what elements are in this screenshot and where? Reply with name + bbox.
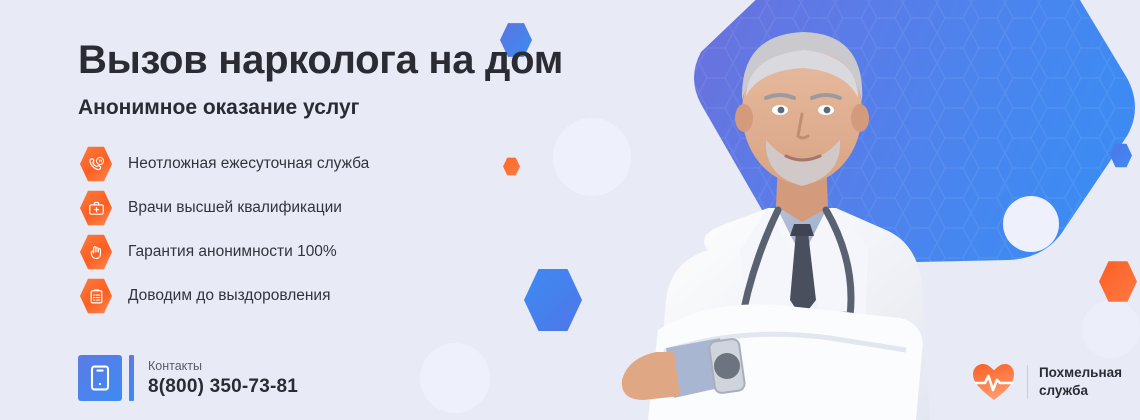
phone-24h-icon: [80, 146, 112, 182]
medical-bag-icon: [80, 190, 112, 226]
list-item: Доводим до выздоровления: [80, 274, 369, 318]
feature-list: Неотложная ежесуточная служба Врачи высш…: [80, 142, 369, 318]
hexagon-orange-decor: [1099, 260, 1137, 303]
hexagon-blue-decor: [1110, 143, 1132, 168]
mobile-phone-icon: [78, 355, 122, 401]
clipboard-icon: [80, 278, 112, 314]
logo-divider: [1027, 365, 1028, 399]
page-subtitle: Анонимное оказание услуг: [78, 96, 359, 120]
contacts-block[interactable]: Контакты 8(800) 350-73-81: [78, 355, 298, 401]
phone-number[interactable]: 8(800) 350-73-81: [148, 376, 298, 398]
page-title: Вызов нарколога на дом: [78, 38, 563, 83]
heart-pulse-icon: [972, 362, 1016, 402]
logo-text-line2: служба: [1039, 383, 1088, 398]
doctor-photo: [600, 0, 1000, 420]
brand-logo[interactable]: Похмельная служба: [972, 362, 1122, 402]
content-column: Вызов нарколога на дом Анонимное оказани…: [78, 0, 638, 420]
list-item-label: Гарантия анонимности 100%: [128, 243, 337, 261]
list-item-label: Врачи высшей квалификации: [128, 199, 342, 217]
white-circle-decor: [1003, 196, 1059, 252]
list-item: Гарантия анонимности 100%: [80, 230, 369, 274]
contacts-label: Контакты: [148, 359, 298, 373]
list-item-label: Неотложная ежесуточная служба: [128, 155, 369, 173]
contacts-divider: [129, 355, 134, 401]
promo-banner: Вызов нарколога на дом Анонимное оказани…: [0, 0, 1140, 420]
list-item: Неотложная ежесуточная служба: [80, 142, 369, 186]
logo-text-line1: Похмельная: [1039, 365, 1122, 380]
pale-circle-decor: [1082, 300, 1140, 358]
logo-text: Похмельная служба: [1039, 364, 1122, 400]
list-item-label: Доводим до выздоровления: [128, 287, 330, 305]
list-item: Врачи высшей квалификации: [80, 186, 369, 230]
hand-shield-icon: [80, 234, 112, 270]
